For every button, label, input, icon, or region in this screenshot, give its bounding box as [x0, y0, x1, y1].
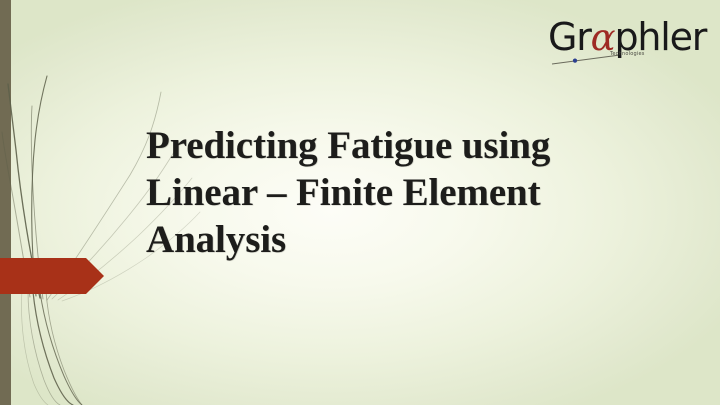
logo-text-part-1: Gr	[548, 15, 591, 59]
graphler-logo: Grαphler Technologies	[548, 14, 708, 70]
logo-subtext: Technologies	[610, 51, 645, 57]
title-line-1: Predicting Fatigue using	[146, 122, 616, 169]
page-title: Predicting Fatigue using Linear – Finite…	[146, 122, 616, 263]
slide-canvas: Predicting Fatigue using Linear – Finite…	[0, 0, 720, 405]
chevron-banner-shape	[0, 258, 104, 294]
title-line-3: Analysis	[146, 216, 616, 263]
title-line-2: Linear – Finite Element	[146, 169, 616, 216]
